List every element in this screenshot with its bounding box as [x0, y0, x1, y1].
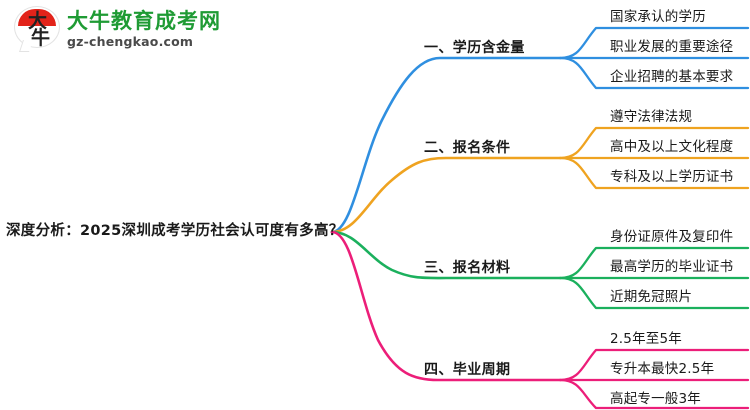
leaf-label-2-1[interactable]: 遵守法律法规 — [610, 108, 692, 126]
leaf-label-4-2[interactable]: 专升本最快2.5年 — [610, 360, 714, 378]
leaf-label-2-2[interactable]: 高中及以上文化程度 — [610, 138, 733, 156]
logo-site-name: 大牛教育成考网 — [67, 10, 221, 33]
leaf-label-3-3[interactable]: 近期免冠照片 — [610, 288, 692, 306]
logo-site-url: gz-chengkao.com — [67, 34, 221, 49]
logo-bubble-icon: 大 牛 — [14, 6, 60, 52]
logo-mark-bottom: 牛 — [20, 30, 60, 47]
leaf-label-3-1[interactable]: 身份证原件及复印件 — [610, 228, 733, 246]
leaf-label-1-2[interactable]: 职业发展的重要途径 — [610, 38, 733, 56]
leaf-label-1-3[interactable]: 企业招聘的基本要求 — [610, 68, 733, 86]
leaf-label-2-3[interactable]: 专科及以上学历证书 — [610, 168, 733, 186]
leaf-label-4-1[interactable]: 2.5年至5年 — [610, 330, 682, 348]
branch-curve-2 — [332, 158, 560, 232]
branch-label-3[interactable]: 三、报名材料 — [424, 259, 510, 277]
branch-label-4[interactable]: 四、毕业周期 — [424, 361, 510, 379]
leaf-label-3-2[interactable]: 最高学历的毕业证书 — [610, 258, 733, 276]
branch-curve-4 — [332, 232, 560, 380]
mindmap-root-label[interactable]: 深度分析：2025深圳成考学历社会认可度有多高？ — [6, 221, 344, 241]
branch-label-1[interactable]: 一、学历含金量 — [424, 39, 525, 57]
mindmap-canvas — [0, 0, 750, 410]
branch-label-2[interactable]: 二、报名条件 — [424, 139, 510, 157]
leaf-label-1-1[interactable]: 国家承认的学历 — [610, 8, 706, 26]
site-logo[interactable]: 大 牛 大牛教育成考网 gz-chengkao.com — [14, 6, 221, 52]
leaf-label-4-3[interactable]: 高起专一般3年 — [610, 390, 701, 408]
